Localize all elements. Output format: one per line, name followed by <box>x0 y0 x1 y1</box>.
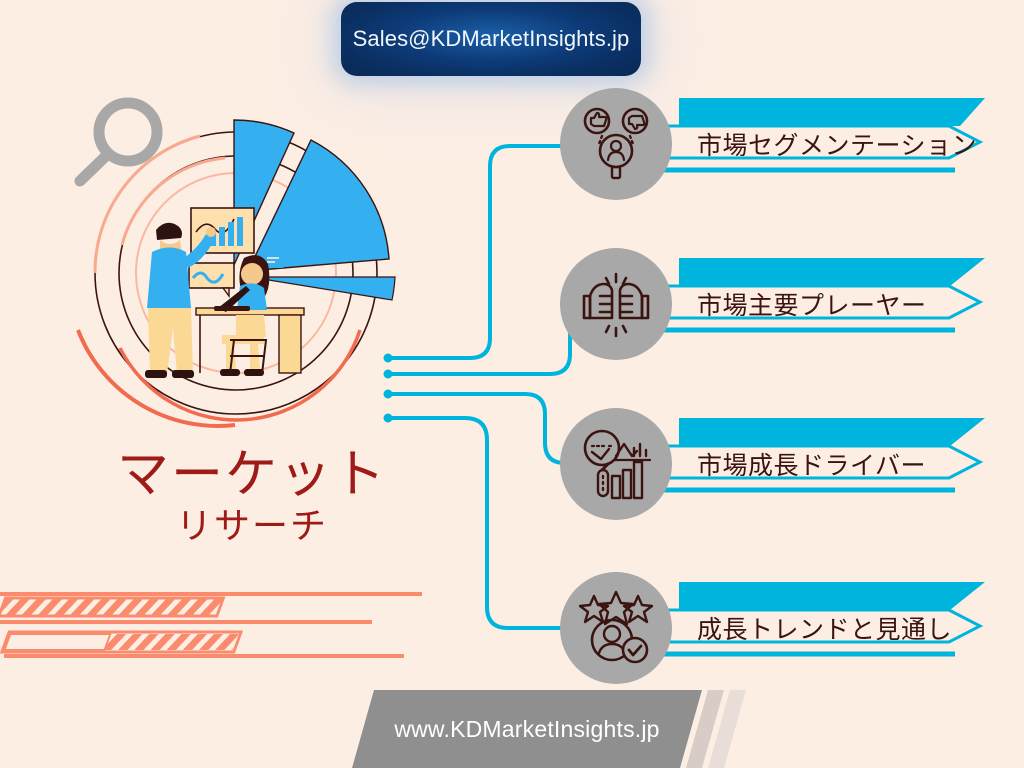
row-icon-circle-2[interactable] <box>560 248 672 360</box>
striped-progress-bars <box>0 580 450 670</box>
list-item[interactable]: 市場主要プレーヤー <box>560 248 990 378</box>
row-label-4: 成長トレンドと見通し <box>697 606 957 650</box>
magnifier-bar-chart-icon <box>578 426 654 502</box>
title-line-1: マーケット <box>92 448 412 503</box>
list-item[interactable]: 市場セグメンテーション <box>560 88 990 218</box>
row-icon-circle-3[interactable] <box>560 408 672 520</box>
infographic-canvas: Sales@KDMarketInsights.jp <box>0 0 1024 768</box>
row-banner-3: 市場成長ドライバー <box>655 412 985 512</box>
list-item[interactable]: 市場成長ドライバー <box>560 408 990 538</box>
email-pill-label: Sales@KDMarketInsights.jp <box>353 26 630 52</box>
row-label-2: 市場主要プレーヤー <box>697 282 957 326</box>
stars-person-check-icon <box>578 590 654 666</box>
thumbs-up-down-magnifier-person-icon <box>578 106 654 182</box>
title-line-2: リサーチ <box>92 503 412 548</box>
footer-band: www.KDMarketInsights.jp <box>352 690 752 768</box>
row-banner-4: 成長トレンドと見通し <box>655 576 985 676</box>
list-item[interactable]: 成長トレンドと見通し <box>560 572 990 702</box>
fist-bump-icon <box>578 266 654 342</box>
email-pill[interactable]: Sales@KDMarketInsights.jp <box>341 2 641 76</box>
row-banner-1: 市場セグメンテーション <box>655 92 985 192</box>
market-research-illustration <box>60 80 420 440</box>
illustration-svg <box>60 80 420 440</box>
row-label-1: 市場セグメンテーション <box>697 122 957 166</box>
row-label-3: 市場成長ドライバー <box>697 442 957 486</box>
row-icon-circle-1[interactable] <box>560 88 672 200</box>
deco-bars-svg <box>0 580 450 670</box>
footer-url: www.KDMarketInsights.jp <box>352 690 702 768</box>
row-banner-2: 市場主要プレーヤー <box>655 252 985 352</box>
row-icon-circle-4[interactable] <box>560 572 672 684</box>
page-title: マーケット リサーチ <box>92 448 412 548</box>
magnifier-icon <box>80 103 157 181</box>
